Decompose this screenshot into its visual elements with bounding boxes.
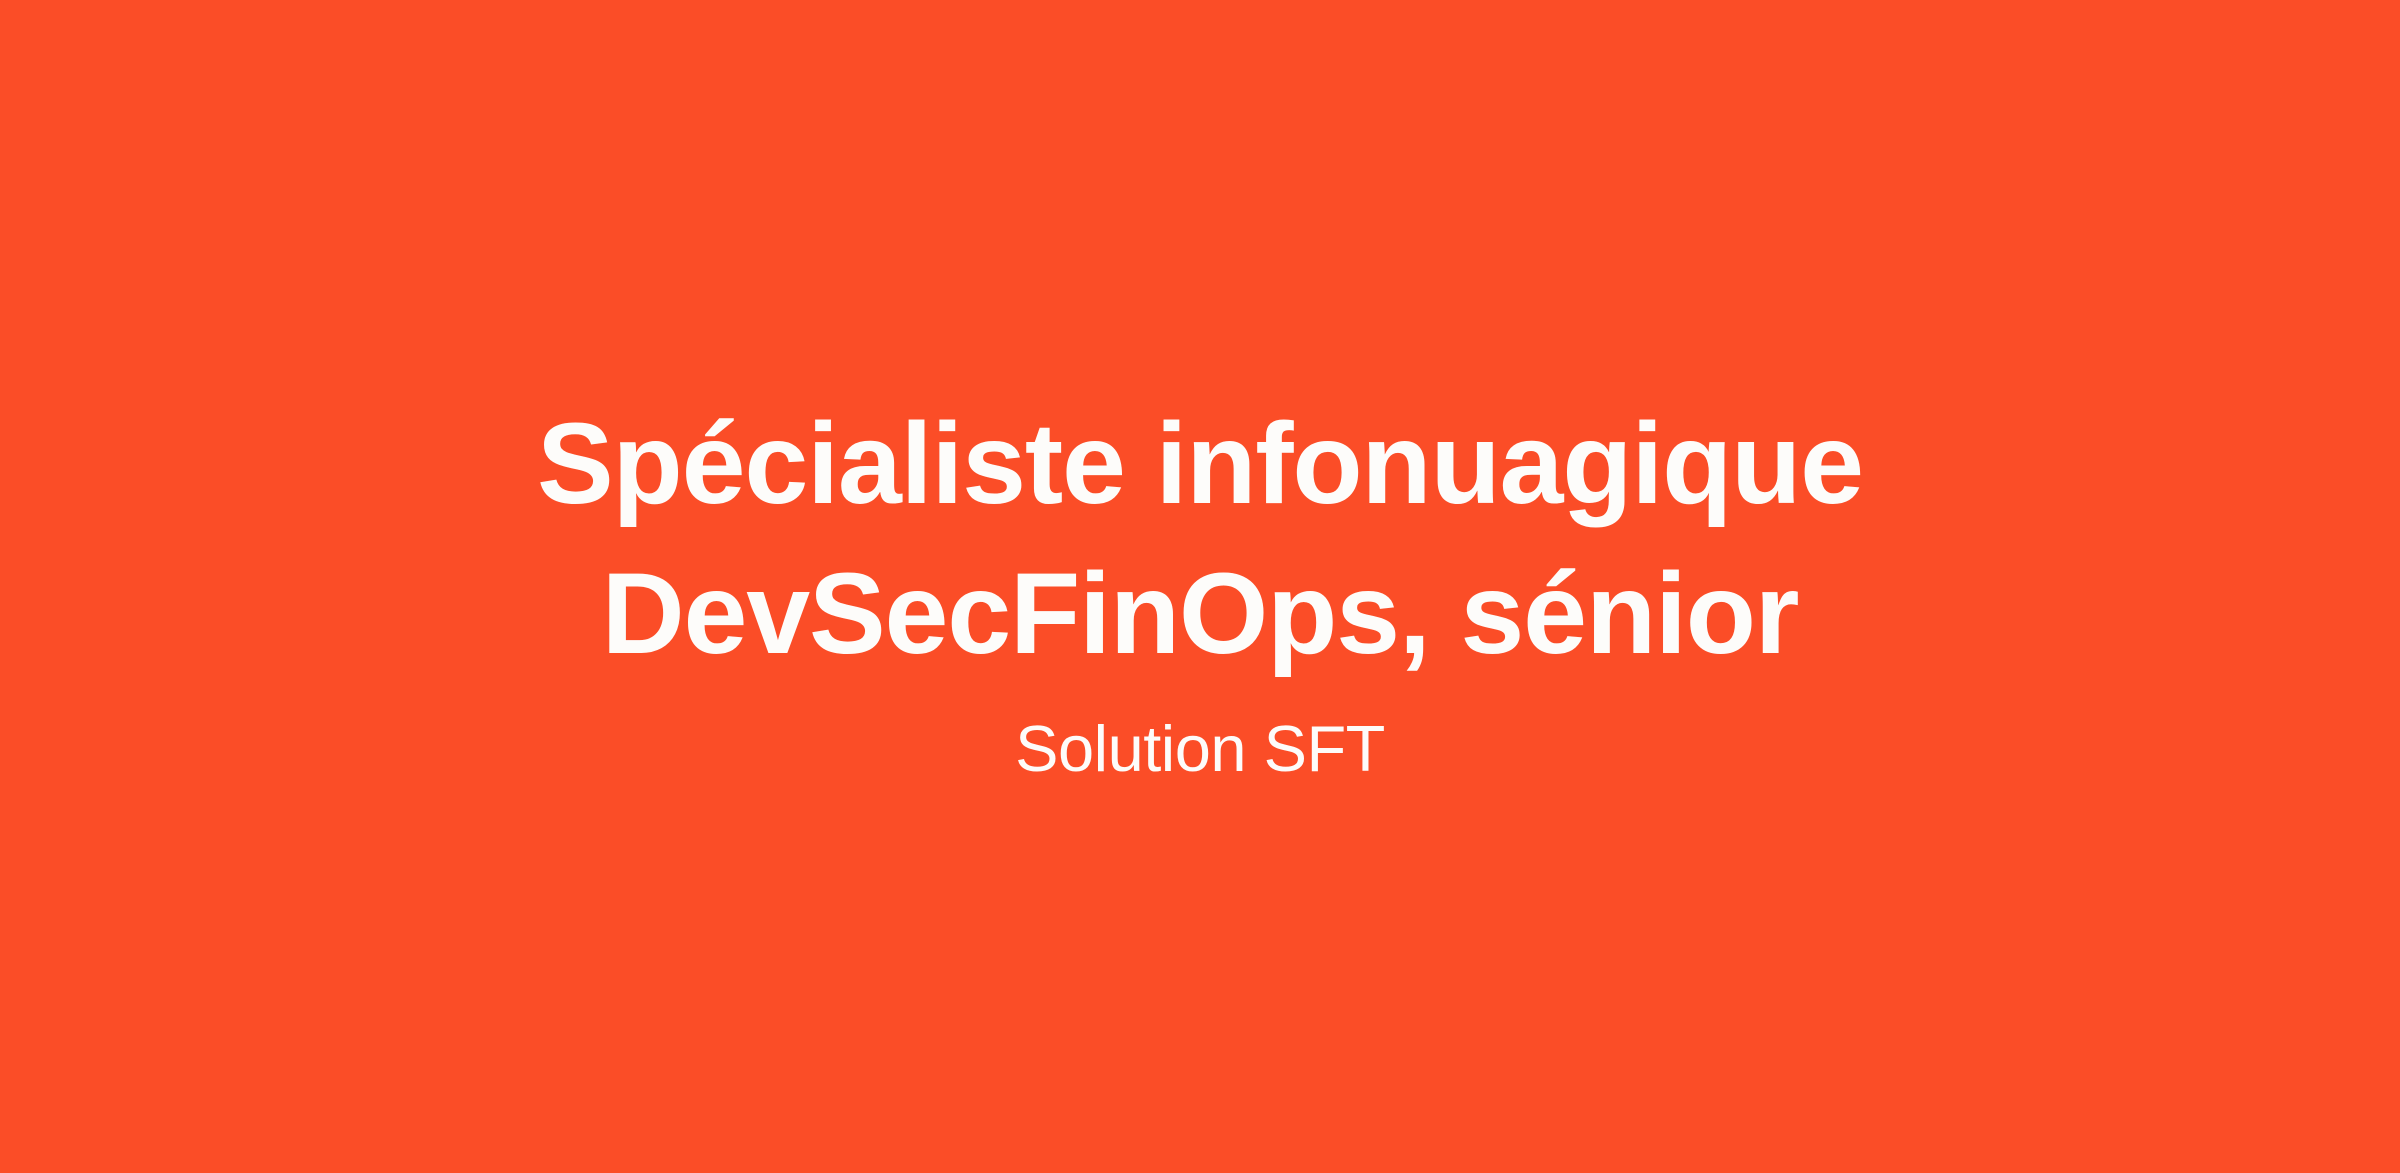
page-subtitle: Solution SFT <box>1015 707 1385 792</box>
page-title-line-1: Spécialiste infonuagique <box>537 390 1863 540</box>
hero-content: Spécialiste infonuagique DevSecFinOps, s… <box>0 390 2400 792</box>
page-title: Spécialiste infonuagique DevSecFinOps, s… <box>537 390 1863 689</box>
page-title-line-2: DevSecFinOps, sénior <box>537 540 1863 690</box>
hero-banner: Spécialiste infonuagique DevSecFinOps, s… <box>0 0 2400 1173</box>
